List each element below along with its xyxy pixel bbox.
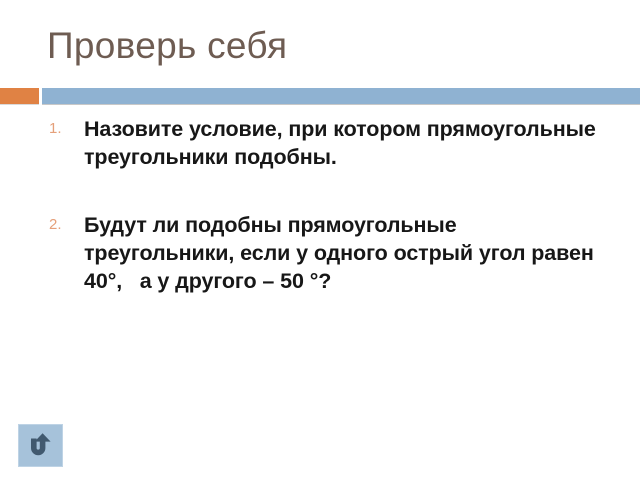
list-item: 1. Назовите условие, при котором прямоуг… — [47, 116, 607, 172]
u-turn-arrow-icon — [26, 432, 56, 460]
list-item: 2. Будут ли подобны прямоугольные треуго… — [47, 212, 607, 296]
divider-blue-bar — [42, 88, 640, 104]
list-item-marker: 1. — [49, 121, 62, 136]
divider-accent-block — [0, 88, 39, 104]
return-button[interactable] — [18, 424, 63, 467]
title-divider — [0, 88, 640, 104]
list-item-marker: 2. — [49, 217, 62, 232]
list-item-text: Будут ли подобны прямоугольные треугольн… — [84, 213, 600, 293]
divider-bar-shadow — [42, 104, 640, 105]
presentation-slide: Проверь себя 1. Назовите условие, при ко… — [0, 0, 640, 480]
list-item-text: Назовите условие, при котором прямоуголь… — [84, 117, 602, 169]
divider-accent-shadow — [0, 104, 39, 105]
slide-title: Проверь себя — [47, 27, 287, 66]
question-list: 1. Назовите условие, при котором прямоуг… — [47, 116, 607, 296]
